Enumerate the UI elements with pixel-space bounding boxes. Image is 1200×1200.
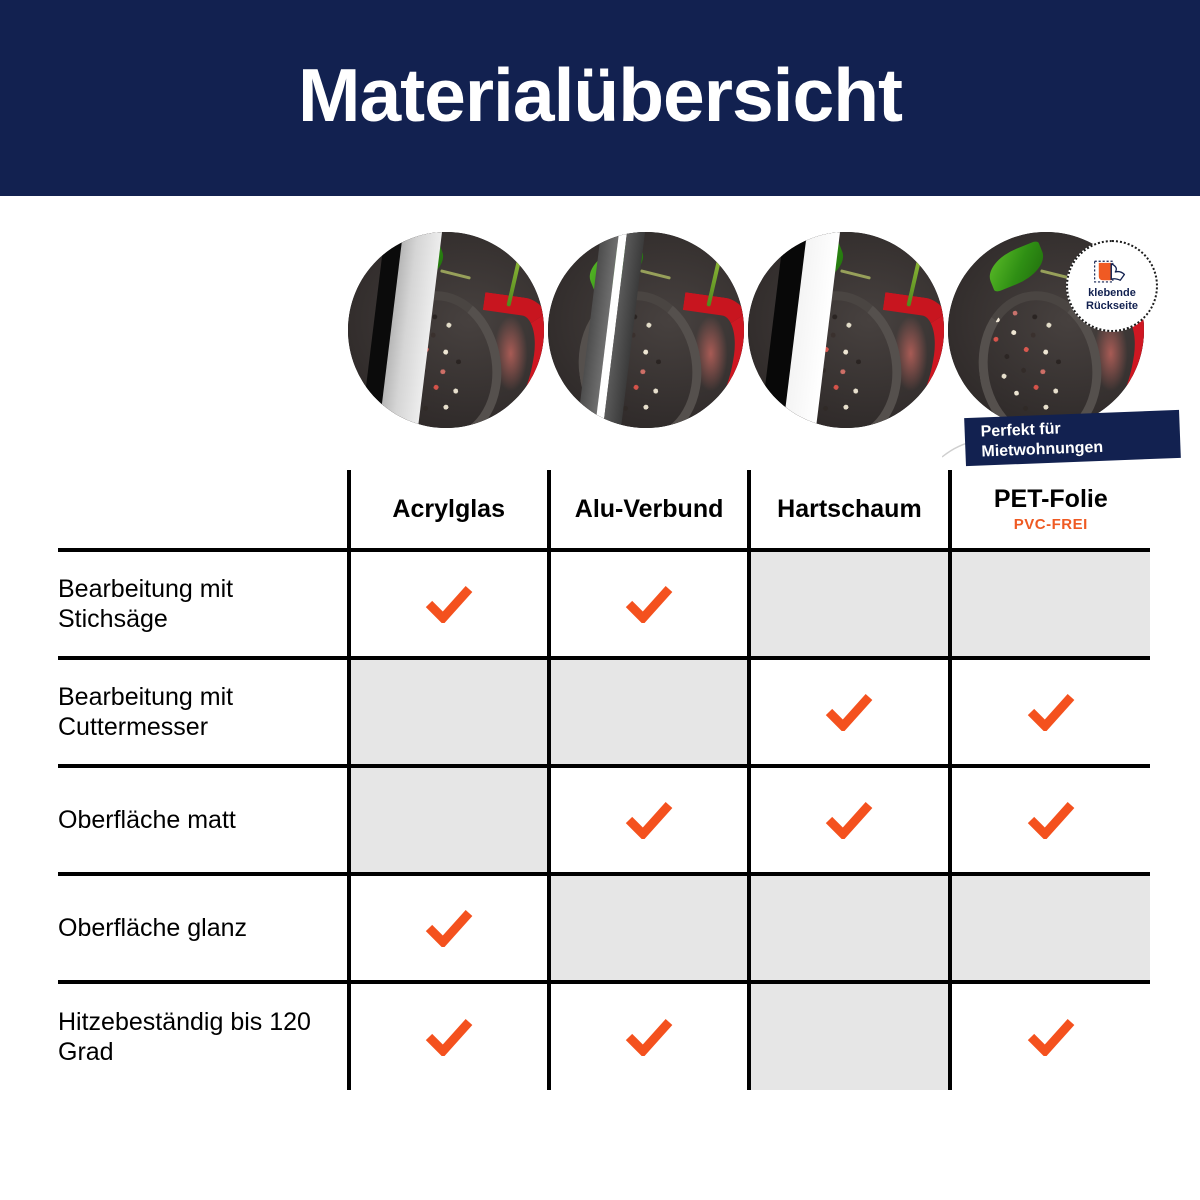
cell-r0-c1 bbox=[549, 550, 749, 658]
checkmark-icon bbox=[825, 693, 873, 731]
red-chili-shape bbox=[670, 292, 744, 415]
leaf-stem-shape bbox=[640, 269, 671, 279]
leaf-stem-shape bbox=[840, 269, 871, 279]
mietwohnungen-ribbon: Perfekt für Mietwohnungen bbox=[964, 410, 1181, 466]
cell-r2-c2 bbox=[749, 766, 949, 874]
row-label-hitzebestaendig: Hitzebeständig bis 120 Grad bbox=[58, 982, 349, 1090]
checkmark-icon bbox=[1027, 1018, 1075, 1056]
page-header: Materialübersicht bbox=[0, 0, 1200, 196]
column-header-badge-pvc-frei: PVC-FREI bbox=[952, 516, 1150, 533]
cell-r3-c3 bbox=[950, 874, 1150, 982]
row-label-cuttermesser: Bearbeitung mit Cuttermesser bbox=[58, 658, 349, 766]
column-header-acrylglas: Acrylglas bbox=[349, 470, 549, 550]
column-header-hartschaum: Hartschaum bbox=[749, 470, 949, 550]
column-header-label: Hartschaum bbox=[777, 495, 922, 523]
cell-r4-c1 bbox=[549, 982, 749, 1090]
table-header-row: Acrylglas Alu-Verbund Hartschaum PET-Fol… bbox=[58, 470, 1150, 550]
table-row: Oberfläche glanz bbox=[58, 874, 1150, 982]
badge-line-2: Rückseite bbox=[1086, 300, 1138, 313]
checkmark-icon bbox=[825, 801, 873, 839]
column-header-alu-verbund: Alu-Verbund bbox=[549, 470, 749, 550]
cell-r0-c3 bbox=[950, 550, 1150, 658]
row-label-oberflaeche-glanz: Oberfläche glanz bbox=[58, 874, 349, 982]
cell-r1-c2 bbox=[749, 658, 949, 766]
column-header-label: Acrylglas bbox=[392, 495, 505, 523]
badge-line-1: klebende bbox=[1088, 287, 1136, 300]
table-row: Bearbeitung mit Stichsäge bbox=[58, 550, 1150, 658]
column-header-pet-folie: PET-Folie PVC-FREI bbox=[950, 470, 1150, 550]
red-chili-shape bbox=[470, 292, 544, 415]
cell-r2-c3 bbox=[950, 766, 1150, 874]
cell-r1-c0 bbox=[349, 658, 549, 766]
table-row: Bearbeitung mit Cuttermesser bbox=[58, 658, 1150, 766]
product-thumbnail-row bbox=[0, 232, 1200, 432]
spices-photo bbox=[548, 232, 744, 428]
cell-r3-c0 bbox=[349, 874, 549, 982]
cell-r4-c3 bbox=[950, 982, 1150, 1090]
column-header-label: PET-Folie bbox=[994, 485, 1108, 513]
peel-sticker-icon bbox=[1093, 259, 1131, 285]
checkmark-icon bbox=[1027, 693, 1075, 731]
checkmark-icon bbox=[625, 1018, 673, 1056]
cell-r0-c0 bbox=[349, 550, 549, 658]
cell-r4-c0 bbox=[349, 982, 549, 1090]
row-label-stichsaege: Bearbeitung mit Stichsäge bbox=[58, 550, 349, 658]
cell-r3-c2 bbox=[749, 874, 949, 982]
checkmark-icon bbox=[425, 1018, 473, 1056]
cell-r1-c3 bbox=[950, 658, 1150, 766]
header-corner-blank bbox=[58, 470, 349, 550]
cell-r0-c2 bbox=[749, 550, 949, 658]
cell-r1-c1 bbox=[549, 658, 749, 766]
page-title: Materialübersicht bbox=[298, 58, 902, 139]
product-thumb-acrylglas[interactable] bbox=[348, 232, 544, 428]
material-comparison-table: Acrylglas Alu-Verbund Hartschaum PET-Fol… bbox=[58, 470, 1150, 1100]
row-label-oberflaeche-matt: Oberfläche matt bbox=[58, 766, 349, 874]
checkmark-icon bbox=[425, 909, 473, 947]
red-chili-shape bbox=[870, 292, 944, 415]
checkmark-icon bbox=[1027, 801, 1075, 839]
cell-r2-c0 bbox=[349, 766, 549, 874]
cell-r3-c1 bbox=[549, 874, 749, 982]
table-row: Hitzebeständig bis 120 Grad bbox=[58, 982, 1150, 1090]
column-header-label: Alu-Verbund bbox=[575, 495, 724, 523]
green-leaf-shape bbox=[983, 240, 1050, 293]
product-thumb-alu-verbund[interactable] bbox=[548, 232, 744, 428]
checkmark-icon bbox=[625, 801, 673, 839]
table-row: Oberfläche matt bbox=[58, 766, 1150, 874]
cell-r2-c1 bbox=[549, 766, 749, 874]
checkmark-icon bbox=[425, 585, 473, 623]
table-body: Bearbeitung mit Stichsäge Bearbeitung mi… bbox=[58, 550, 1150, 1090]
checkmark-icon bbox=[625, 585, 673, 623]
product-thumb-hartschaum[interactable] bbox=[748, 232, 944, 428]
cell-r4-c2 bbox=[749, 982, 949, 1090]
leaf-stem-shape bbox=[440, 269, 471, 279]
klebende-rueckseite-badge: klebende Rückseite bbox=[1066, 240, 1158, 332]
